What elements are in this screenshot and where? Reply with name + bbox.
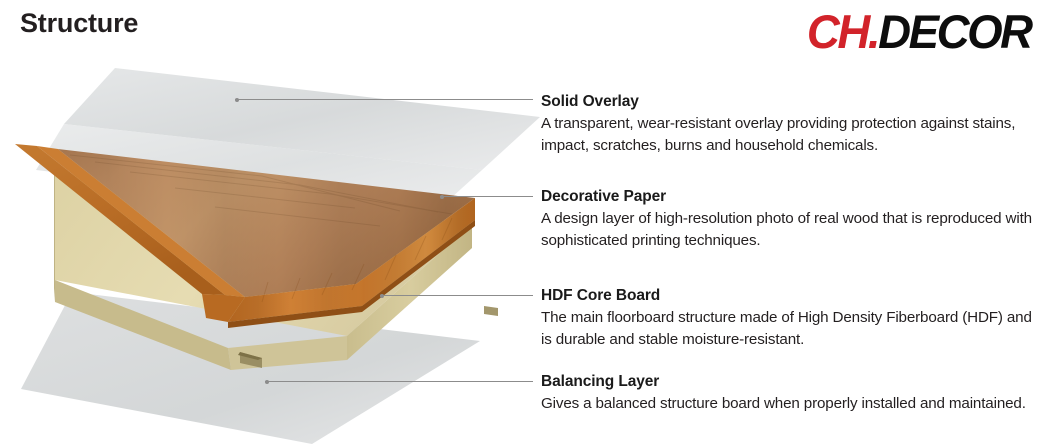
- callout-hdf-core-board: HDF Core Board The main floorboard struc…: [541, 286, 1046, 350]
- callout-balancing-layer: Balancing Layer Gives a balanced structu…: [541, 372, 1046, 415]
- logo-text-dot: .: [868, 4, 878, 60]
- callout-decorative-paper: Decorative Paper A design layer of high-…: [541, 187, 1046, 251]
- leader-line-decorative-paper: [440, 196, 533, 197]
- page-title: Structure: [20, 6, 138, 40]
- callout-title-solid-overlay: Solid Overlay: [541, 92, 1046, 112]
- flooring-layers-illustration: [0, 52, 540, 447]
- callout-body-balancing-layer: Gives a balanced structure board when pr…: [541, 393, 1046, 415]
- callout-body-decorative-paper: A design layer of high-resolution photo …: [541, 208, 1046, 251]
- callout-title-hdf-core-board: HDF Core Board: [541, 286, 1046, 306]
- logo-text-ch: CH: [807, 4, 868, 60]
- callout-title-balancing-layer: Balancing Layer: [541, 372, 1046, 392]
- callout-body-hdf-core-board: The main floorboard structure made of Hi…: [541, 307, 1046, 350]
- callout-title-decorative-paper: Decorative Paper: [541, 187, 1046, 207]
- leader-line-balancing-layer: [265, 381, 533, 382]
- callout-solid-overlay: Solid Overlay A transparent, wear-resist…: [541, 92, 1046, 156]
- callout-body-solid-overlay: A transparent, wear-resistant overlay pr…: [541, 113, 1046, 156]
- leader-line-solid-overlay: [235, 99, 533, 100]
- logo-text-decor: DECOR: [878, 4, 1031, 60]
- brand-logo: CH.DECOR: [807, 4, 1031, 60]
- structure-infographic: Structure CH.DECOR: [0, 0, 1059, 447]
- leader-line-hdf-core-board: [380, 295, 533, 296]
